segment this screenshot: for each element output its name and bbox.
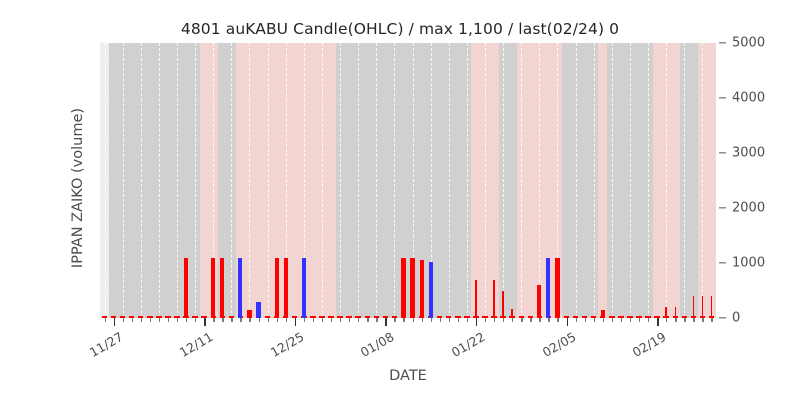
x-tick-minor: [612, 318, 613, 322]
y-axis-title: IPPAN ZAIKO (volume): [70, 48, 86, 328]
x-tick-minor: [494, 318, 495, 322]
volume-bar: [401, 258, 405, 319]
volume-bar: [238, 258, 242, 319]
gridline: [141, 43, 143, 318]
volume-bar: [256, 302, 260, 319]
volume-bar: [211, 258, 215, 319]
x-tick-minor: [277, 318, 278, 322]
volume-bar: [511, 309, 512, 318]
y-tick-mark: [719, 152, 726, 153]
x-tick-minor: [675, 318, 676, 322]
gridline: [394, 43, 396, 318]
gridline: [503, 43, 505, 318]
volume-bar: [601, 310, 605, 318]
volume-bar: [410, 258, 414, 319]
x-tick-major: [295, 318, 296, 326]
x-tick-minor: [240, 318, 241, 322]
x-tick-minor: [684, 318, 685, 322]
gridline: [539, 43, 541, 318]
x-tick-minor: [304, 318, 305, 322]
y-tick-label: 4000: [732, 91, 765, 106]
gridline: [249, 43, 251, 318]
volume-bar: [475, 280, 476, 319]
x-tick-minor: [340, 318, 341, 322]
gridline: [177, 43, 179, 318]
x-tick-minor: [322, 318, 323, 322]
gridline: [268, 43, 270, 318]
volume-bar: [275, 258, 279, 319]
x-tick-minor: [358, 318, 359, 322]
x-tick-minor: [159, 318, 160, 322]
x-tick-major: [476, 318, 477, 326]
x-tick-minor: [186, 318, 187, 322]
gridline: [612, 43, 614, 318]
x-tick-minor: [639, 318, 640, 322]
x-tick-minor: [594, 318, 595, 322]
x-tick-minor: [222, 318, 223, 322]
x-tick-minor: [431, 318, 432, 322]
gridline: [576, 43, 578, 318]
x-tick-minor: [376, 318, 377, 322]
volume-bar: [502, 291, 503, 319]
x-tick-minor: [702, 318, 703, 322]
background-band: [598, 43, 607, 318]
background-band: [680, 43, 698, 318]
gridline: [376, 43, 378, 318]
gridline: [702, 43, 704, 318]
x-tick-minor: [485, 318, 486, 322]
volume-bar: [247, 310, 251, 318]
x-tick-minor: [630, 318, 631, 322]
x-tick-minor: [213, 318, 214, 322]
x-tick-minor: [576, 318, 577, 322]
y-tick-label: 2000: [732, 201, 765, 216]
y-tick-mark: [719, 42, 726, 43]
x-tick-minor: [231, 318, 232, 322]
x-tick-minor: [150, 318, 151, 322]
x-tick-label: 01/22: [444, 329, 488, 363]
x-tick-label: 02/05: [534, 329, 578, 363]
x-tick-major: [204, 318, 205, 326]
x-tick-minor: [141, 318, 142, 322]
volume-bar: [546, 258, 550, 319]
x-tick-minor: [467, 318, 468, 322]
x-tick-label: 11/27: [81, 329, 125, 363]
x-tick-minor: [521, 318, 522, 322]
volume-bar: [429, 262, 433, 318]
x-tick-minor: [195, 318, 196, 322]
volume-bar: [420, 260, 424, 318]
x-tick-minor: [458, 318, 459, 322]
x-tick-minor: [259, 318, 260, 322]
x-tick-minor: [177, 318, 178, 322]
gridline: [105, 43, 107, 318]
x-axis-title: DATE: [100, 368, 716, 384]
x-tick-minor: [512, 318, 513, 322]
gridline: [485, 43, 487, 318]
y-tick-label: 0: [732, 311, 740, 326]
x-tick-minor: [503, 318, 504, 322]
x-tick-minor: [621, 318, 622, 322]
x-tick-minor: [132, 318, 133, 322]
x-tick-minor: [413, 318, 414, 322]
gridline: [322, 43, 324, 318]
volume-bar: [665, 307, 666, 318]
gridline: [666, 43, 668, 318]
volume-bar: [184, 258, 188, 319]
gridline: [231, 43, 233, 318]
x-tick-minor: [693, 318, 694, 322]
volume-bar: [537, 285, 541, 318]
background-band: [499, 43, 517, 318]
background-band: [698, 43, 716, 318]
x-tick-major: [385, 318, 386, 326]
x-tick-minor: [313, 318, 314, 322]
x-tick-minor: [286, 318, 287, 322]
x-tick-label: 12/25: [262, 329, 306, 363]
x-tick-minor: [711, 318, 712, 322]
volume-bar: [675, 307, 676, 318]
x-tick-label: 01/08: [353, 329, 397, 363]
plot-area: [100, 43, 716, 318]
x-tick-minor: [449, 318, 450, 322]
x-tick-minor: [367, 318, 368, 322]
page-title: 4801 auKABU Candle(OHLC) / max 1,100 / l…: [0, 20, 800, 38]
x-tick-label: 02/19: [625, 329, 669, 363]
gridline: [594, 43, 596, 318]
x-tick-minor: [394, 318, 395, 322]
x-tick-minor: [249, 318, 250, 322]
gridline: [123, 43, 125, 318]
y-tick-mark: [719, 207, 726, 208]
x-tick-minor: [539, 318, 540, 322]
x-tick-minor: [105, 318, 106, 322]
x-tick-minor: [440, 318, 441, 322]
x-tick-label: 12/11: [172, 329, 216, 363]
x-axis: 11/2712/1112/2501/0801/2202/0502/19: [100, 318, 716, 368]
x-tick-minor: [585, 318, 586, 322]
x-tick-minor: [648, 318, 649, 322]
gridline: [467, 43, 469, 318]
x-tick-minor: [557, 318, 558, 322]
volume-bar: [284, 258, 288, 319]
gridline: [449, 43, 451, 318]
gridline: [195, 43, 197, 318]
x-tick-major: [114, 318, 115, 326]
gridline: [340, 43, 342, 318]
x-tick-minor: [123, 318, 124, 322]
x-tick-major: [567, 318, 568, 326]
x-tick-minor: [548, 318, 549, 322]
y-tick-mark: [719, 262, 726, 263]
gridline: [684, 43, 686, 318]
gridline: [630, 43, 632, 318]
y-tick-label: 1000: [732, 256, 765, 271]
x-tick-minor: [331, 318, 332, 322]
volume-bar: [693, 296, 694, 318]
volume-bar: [555, 258, 559, 319]
x-tick-minor: [530, 318, 531, 322]
x-tick-minor: [422, 318, 423, 322]
y-axis: 010002000300040005000: [716, 43, 800, 318]
gridline: [521, 43, 523, 318]
volume-bar: [702, 296, 703, 318]
y-tick-mark: [719, 317, 726, 318]
volume-bar: [493, 280, 494, 319]
y-tick-mark: [719, 97, 726, 98]
x-tick-minor: [403, 318, 404, 322]
gridline: [358, 43, 360, 318]
x-tick-minor: [168, 318, 169, 322]
gridline: [648, 43, 650, 318]
x-tick-minor: [666, 318, 667, 322]
gridline: [159, 43, 161, 318]
x-tick-major: [657, 318, 658, 326]
x-tick-minor: [603, 318, 604, 322]
volume-bar: [711, 296, 712, 318]
x-tick-minor: [349, 318, 350, 322]
y-tick-label: 3000: [732, 146, 765, 161]
x-tick-minor: [268, 318, 269, 322]
y-tick-label: 5000: [732, 36, 765, 51]
volume-bar: [302, 258, 306, 319]
volume-bar: [220, 258, 224, 319]
chart-figure: 4801 auKABU Candle(OHLC) / max 1,100 / l…: [0, 0, 800, 400]
